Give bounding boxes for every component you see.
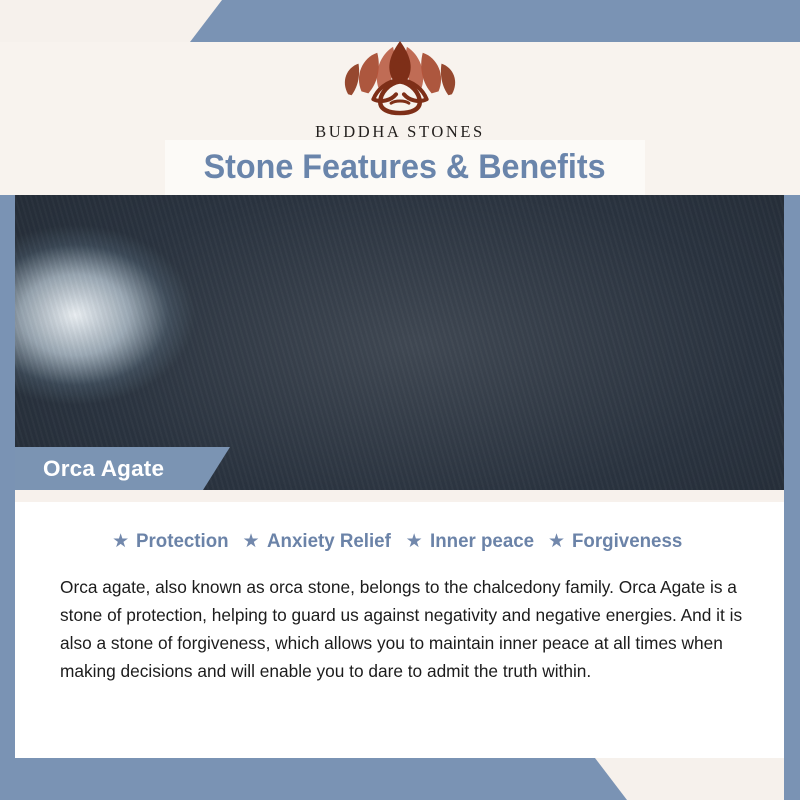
page-title-band: Stone Features & Benefits [165,140,645,195]
benefits-list: ★ Protection ★ Anxiety Relief ★ Inner pe… [39,530,760,553]
infographic-page: BUDDHA STONES Stone Features & Benefits … [0,0,800,800]
star-icon: ★ [112,532,129,551]
brand-name: BUDDHA STONES [315,122,485,142]
page-title: Stone Features & Benefits [204,148,606,187]
brand-logo: BUDDHA STONES [315,36,485,142]
benefit-item-anxiety-relief: ★ Anxiety Relief [243,530,396,553]
frame-left-bar [0,195,15,800]
star-icon: ★ [243,532,260,551]
stone-name-label: Orca Agate [15,456,164,482]
star-icon: ★ [548,532,565,551]
benefit-label: Protection [136,530,229,553]
star-icon: ★ [406,532,423,551]
benefit-label: Forgiveness [572,530,682,553]
content-panel: ★ Protection ★ Anxiety Relief ★ Inner pe… [15,490,784,758]
benefit-label: Inner peace [430,530,534,553]
lotus-meditation-logo-icon [325,36,475,120]
hero-image-vignette [15,195,784,490]
description-text: Orca agate, also known as orca stone, be… [39,573,760,685]
benefit-item-protection: ★ Protection [112,530,232,553]
content-top-strip [15,490,784,502]
stone-name-banner: Orca Agate [15,447,230,490]
benefit-item-inner-peace: ★ Inner peace [406,530,538,553]
benefit-item-forgiveness: ★ Forgiveness [548,530,687,553]
frame-bottom-bar [0,758,800,800]
hero-image [15,195,784,490]
benefit-label: Anxiety Relief [267,530,391,553]
